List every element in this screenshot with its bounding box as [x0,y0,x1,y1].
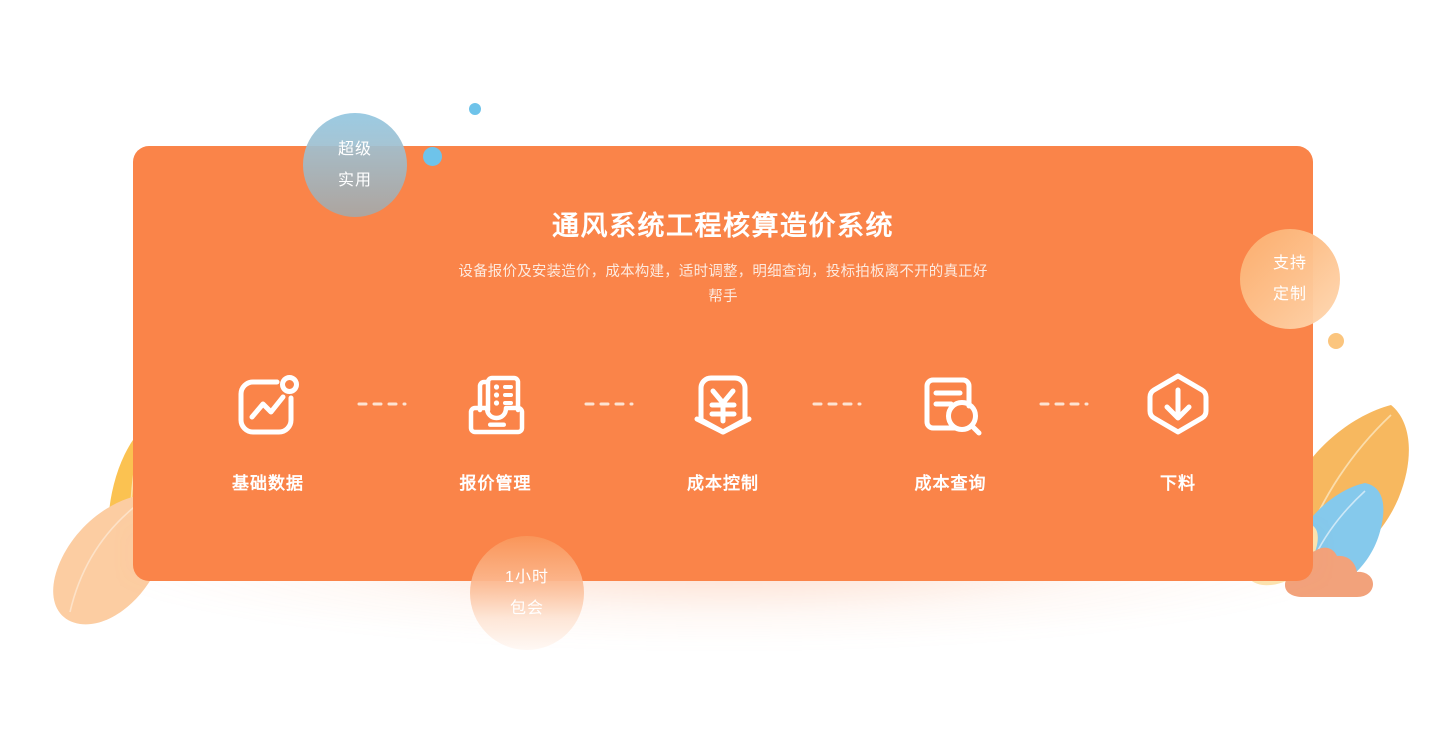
badge-line-1: 1小时 [505,562,549,593]
chart-card-icon [225,361,311,447]
hero-banner: 通风系统工程核算造价系统 设备报价及安装造价，成本构建，适时调整，明细查询，投标… [0,0,1440,730]
badge-line-1: 支持 [1273,248,1307,279]
hero-heading: 通风系统工程核算造价系统 设备报价及安装造价，成本构建，适时调整，明细查询，投标… [133,210,1313,310]
blue-dot-large-icon [423,147,442,166]
feature-label: 基础数据 [232,469,304,494]
badge-line-1: 超级 [338,134,372,165]
orange-dot-icon [1328,333,1344,349]
feature-label: 报价管理 [460,469,532,494]
feature-item-material-cutting[interactable]: 下料 [1103,361,1253,494]
product-card: 通风系统工程核算造价系统 设备报价及安装造价，成本构建，适时调整，明细查询，投标… [133,146,1313,581]
page-title: 通风系统工程核算造价系统 [133,210,1313,242]
badge-supports-customization[interactable]: 支持 定制 [1240,229,1340,329]
feature-item-basic-data[interactable]: 基础数据 [193,361,343,494]
badge-super-practical[interactable]: 超级 实用 [303,113,407,217]
feature-item-cost-control[interactable]: 成本控制 [648,361,798,494]
feature-label: 成本查询 [915,469,987,494]
feature-item-quote-management[interactable]: 报价管理 [421,361,571,494]
feature-list: 基础数据 [193,361,1253,494]
page-subtitle: 设备报价及安装造价，成本构建，适时调整，明细查询，投标拍板离不开的真正好帮手 [458,260,988,310]
connector-4 [1031,361,1097,447]
badge-line-2: 实用 [338,165,372,196]
inbox-documents-icon [453,361,539,447]
document-search-icon [908,361,994,447]
yuan-banner-icon [680,361,766,447]
feature-label: 下料 [1160,469,1196,494]
connector-2 [576,361,642,447]
connector-3 [804,361,870,447]
badge-one-hour-guarantee[interactable]: 1小时 包会 [470,536,584,650]
feature-label: 成本控制 [687,469,759,494]
badge-line-2: 包会 [510,593,544,624]
blue-dot-small-icon [469,103,481,115]
badge-line-2: 定制 [1273,279,1307,310]
connector-1 [349,361,415,447]
hexagon-download-icon [1135,361,1221,447]
feature-item-cost-query[interactable]: 成本查询 [876,361,1026,494]
